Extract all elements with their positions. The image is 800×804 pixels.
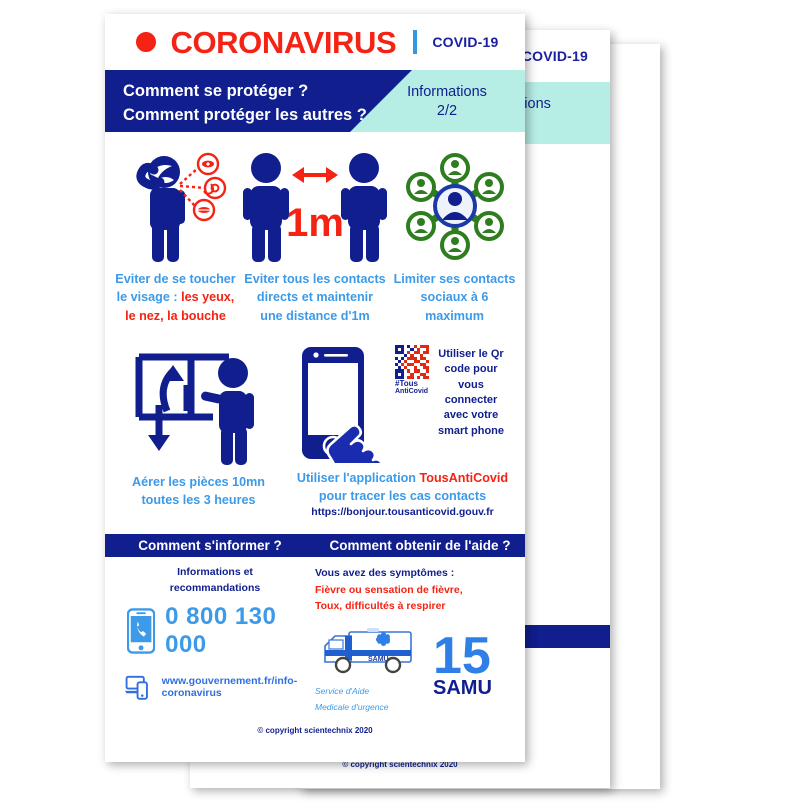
social-network-icon xyxy=(399,150,511,262)
footer-help-column: Vous avez des symptômes : Fièvre ou sens… xyxy=(315,565,515,715)
symptoms-line-1: Fièvre ou sensation de fièvre, xyxy=(315,582,515,598)
samu-service-line1: Service d'Aide xyxy=(315,683,427,699)
info-page: 2/2 xyxy=(377,102,517,121)
tip-card-app: #Tous AntiCovid Utiliser le Qr code pour… xyxy=(286,345,519,521)
covid-label: COVID-19 xyxy=(432,34,498,50)
band-info: Informations 2/2 xyxy=(377,83,517,121)
masthead-divider xyxy=(413,30,417,54)
tip4-line2: toutes les 3 heures xyxy=(132,491,265,509)
qr-label: #Tous AntiCovid xyxy=(395,380,429,395)
footer-bar-left: Comment s'informer ? xyxy=(105,538,315,553)
qr-label-sub: AntiCovid xyxy=(395,388,429,395)
open-window-airing-icon xyxy=(129,345,269,465)
ambulance-block: SAMU Service d'Aide Medicale d'urgence xyxy=(315,624,427,715)
website-row: www.gouvernement.fr/info-coronavirus xyxy=(115,671,315,703)
poster-front[interactable]: CORONAVIRUS COVID-19 Comment se protéger… xyxy=(105,14,525,762)
tip1-line1: Eviter de se toucher xyxy=(115,270,235,288)
footer-inform-line2: recommandations xyxy=(115,581,315,597)
distance-label: 1m xyxy=(286,201,344,245)
footer-content: Informations et recommandations 0 800 13… xyxy=(105,557,525,715)
masthead: CORONAVIRUS COVID-19 xyxy=(105,14,525,70)
copyright: © copyright scientechnix 2020 xyxy=(105,726,525,735)
tip2-line3: une distance d'1m xyxy=(244,307,385,325)
band-question-1: Comment se protéger ? xyxy=(123,80,367,104)
tip-card-distance: 1m Eviter tous les contacts directs et m… xyxy=(240,150,390,325)
brand-title: CORONAVIRUS xyxy=(170,27,396,58)
tip1-line2: le visage : les yeux, xyxy=(115,288,235,306)
samu-service-line2: Medicale d'urgence xyxy=(315,699,427,715)
phone-row: 0 800 130 000 xyxy=(115,603,315,659)
qr-instruction-text: Utiliser le Qr code pour vous connecter … xyxy=(433,347,509,439)
tip3-line2: sociaux à 6 maximum xyxy=(390,288,519,325)
person-touching-face-icon xyxy=(120,150,232,262)
footer-inform-line1: Informations et xyxy=(115,565,315,581)
poster-body: Eviter de se toucher le visage : les yeu… xyxy=(105,150,525,520)
tip4-line1: Aérer les pièces 10mn xyxy=(132,473,265,491)
qr-label-hash: #Tous xyxy=(395,379,418,388)
tip1-line2b: les yeux, xyxy=(181,290,234,304)
tip-art-2: 1m xyxy=(240,150,390,262)
tip-art-1 xyxy=(120,150,232,262)
tip5-line2: pour tracer les cas contacts xyxy=(297,487,508,505)
qr-code-icon xyxy=(395,345,429,379)
samu-number-block: 15 SAMU xyxy=(433,636,492,698)
svg-text:SAMU: SAMU xyxy=(368,656,389,663)
mobile-phone-icon xyxy=(127,607,155,655)
tip-caption-3: Limiter ses contacts sociaux à 6 maximum xyxy=(390,270,519,325)
tip2-line1: Eviter tous les contacts xyxy=(244,270,385,288)
tip-card-touch-face: Eviter de se toucher le visage : les yeu… xyxy=(111,150,240,325)
laptop-and-phone-icon xyxy=(125,671,152,703)
tip1-line2a: le visage : xyxy=(117,290,181,304)
tip2-line2: directs et maintenir xyxy=(244,288,385,306)
symptoms-title: Vous avez des symptômes : xyxy=(315,565,515,581)
tip-caption-5: Utiliser l'application TousAntiCovid pou… xyxy=(297,469,508,521)
title-band: Comment se protéger ? Comment protéger l… xyxy=(105,70,525,132)
band-questions: Comment se protéger ? Comment protéger l… xyxy=(123,80,367,128)
tips-row-1: Eviter de se toucher le visage : les yeu… xyxy=(111,150,519,325)
tip-card-social-limit: Limiter ses contacts sociaux à 6 maximum xyxy=(390,150,519,325)
smartphone-hand-tap-icon xyxy=(296,345,391,463)
two-people-distance-icon: 1m xyxy=(240,150,390,262)
tip5-line1a: Utiliser l'application xyxy=(297,471,420,485)
tip5-line1b: TousAntiCovid xyxy=(420,471,509,485)
tip-art-4 xyxy=(129,345,269,465)
samu-number: 15 xyxy=(433,636,492,678)
tips-row-2: Aérer les pièces 10mn toutes les 3 heure… xyxy=(111,345,519,521)
info-label: Informations xyxy=(377,83,517,102)
tip5-line1: Utiliser l'application TousAntiCovid xyxy=(297,469,508,487)
covid-label-middle: COVID-19 xyxy=(522,48,588,64)
footer-inform-heading: Informations et recommandations xyxy=(115,565,315,597)
samu-word: SAMU xyxy=(433,678,492,698)
tip3-line1: Limiter ses contacts xyxy=(390,270,519,288)
footer-bar: Comment s'informer ? Comment obtenir de … xyxy=(105,534,525,557)
tip-art-5: #Tous AntiCovid Utiliser le Qr code pour… xyxy=(296,345,509,465)
symptoms-line-2: Toux, difficultés à respirer xyxy=(315,598,515,614)
qr-block: #Tous AntiCovid xyxy=(395,345,429,389)
tip-caption-1: Eviter de se toucher le visage : les yeu… xyxy=(115,270,235,325)
footer-bar-right: Comment obtenir de l'aide ? xyxy=(315,538,525,553)
tip-caption-4: Aérer les pièces 10mn toutes les 3 heure… xyxy=(132,473,265,510)
tip-card-airing: Aérer les pièces 10mn toutes les 3 heure… xyxy=(111,345,286,521)
symptoms-block: Vous avez des symptômes : Fièvre ou sens… xyxy=(315,565,515,614)
tip5-url[interactable]: https://bonjour.tousanticovid.gouv.fr xyxy=(297,505,508,520)
footer-inform-column: Informations et recommandations 0 800 13… xyxy=(115,565,315,715)
tip-art-3 xyxy=(399,150,511,262)
ambulance-icon: SAMU xyxy=(315,624,427,678)
tip1-line3: le nez, la bouche xyxy=(115,307,235,325)
website-url[interactable]: www.gouvernement.fr/info-coronavirus xyxy=(162,675,315,699)
band-question-2: Comment protéger les autres ? xyxy=(123,104,367,128)
phone-number: 0 800 130 000 xyxy=(165,603,315,659)
samu-row: SAMU Service d'Aide Medicale d'urgence 1… xyxy=(315,624,515,715)
tip-caption-2: Eviter tous les contacts directs et main… xyxy=(244,270,385,325)
coronavirus-icon xyxy=(131,27,161,57)
